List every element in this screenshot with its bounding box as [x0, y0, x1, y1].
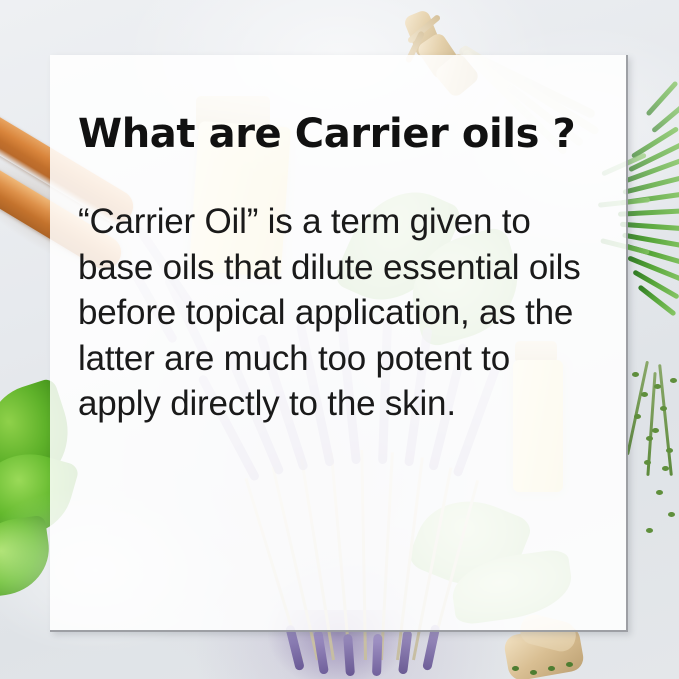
infographic-canvas: What are Carrier oils ? “Carrier Oil” is… — [0, 0, 679, 679]
page-title: What are Carrier oils ? — [78, 55, 602, 155]
card-text-layer: What are Carrier oils ? “Carrier Oil” is… — [50, 55, 628, 632]
body-paragraph: “Carrier Oil” is a term given to base oi… — [78, 155, 602, 427]
mint-leaf-icon — [0, 515, 55, 599]
